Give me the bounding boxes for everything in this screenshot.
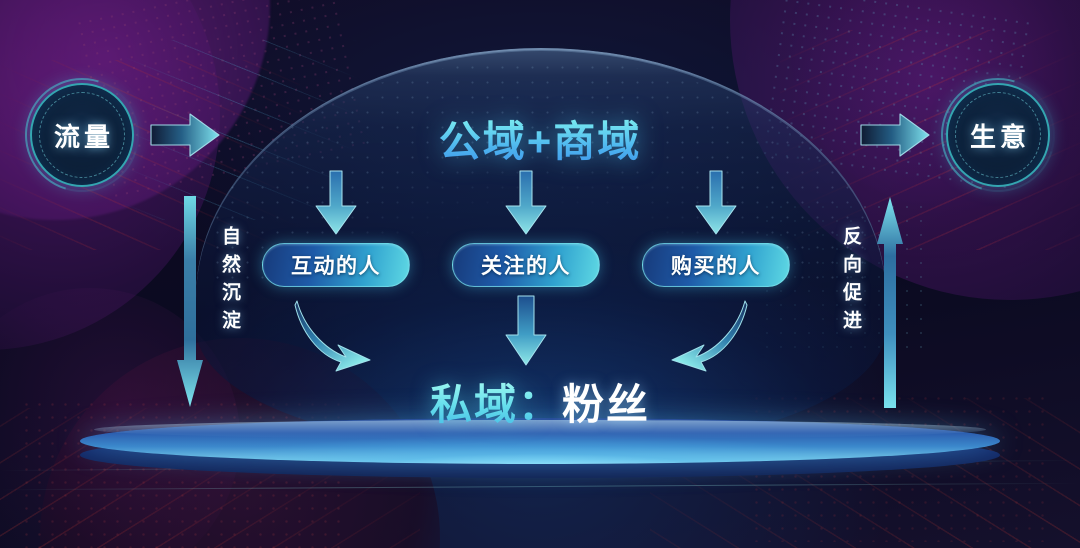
arrow-pill-2-to-private-domain xyxy=(503,295,549,367)
arrow-up-reverse-promotion-icon xyxy=(876,196,904,408)
arrow-dome-to-pill-3 xyxy=(693,170,739,236)
pill-following-people[interactable]: 关注的人 xyxy=(452,243,600,287)
arrow-dome-to-pill-1 xyxy=(313,170,359,236)
pill-purchasing-people[interactable]: 购买的人 xyxy=(642,243,790,287)
arrow-down-natural-precipitation-icon xyxy=(176,196,204,408)
diagram-canvas: 流量 生意 xyxy=(0,0,1080,548)
pill-purchasing-people-label: 购买的人 xyxy=(671,250,761,280)
pill-interacting-people-label: 互动的人 xyxy=(291,250,381,280)
flow-reverse-promotion: 反向促进 xyxy=(792,196,912,408)
flow-reverse-promotion-label: 反向促进 xyxy=(837,226,864,338)
dome-title: 公域+商域 xyxy=(0,108,1080,169)
private-domain-suffix: 粉丝 xyxy=(562,381,650,428)
node-business-label: 生意 xyxy=(966,117,1030,154)
arrow-pill-1-to-private-domain xyxy=(292,293,402,373)
private-domain-prefix: 私域： xyxy=(430,381,562,428)
arrow-pill-3-to-private-domain xyxy=(640,293,750,373)
node-traffic-label: 流量 xyxy=(50,117,114,154)
pill-following-people-label: 关注的人 xyxy=(481,250,571,280)
flow-natural-precipitation-label: 自然沉淀 xyxy=(216,226,243,338)
private-domain-title: 私域：粉丝 xyxy=(0,371,1080,432)
arrow-dome-to-pill-2 xyxy=(503,170,549,236)
flow-natural-precipitation: 自然沉淀 xyxy=(168,196,288,408)
